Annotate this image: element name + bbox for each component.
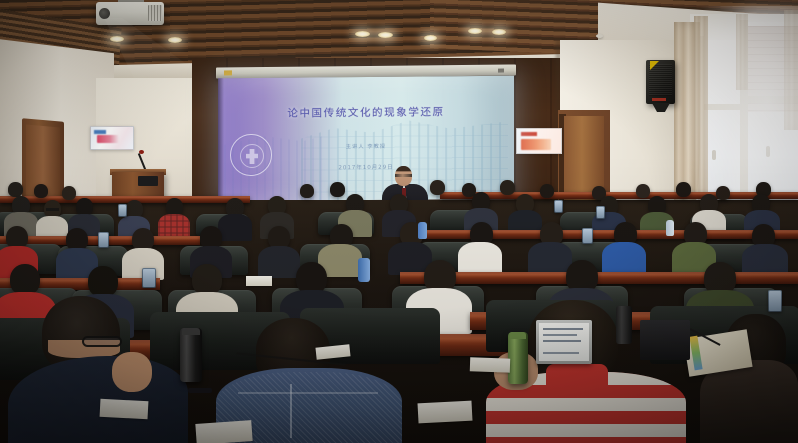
speaker-label — [652, 98, 666, 101]
thermos-flask[interactable] — [616, 306, 632, 344]
speaker-grille — [649, 64, 672, 96]
loose-paper[interactable] — [100, 399, 149, 419]
attendee-head — [330, 182, 345, 197]
tablet-text-line — [543, 346, 571, 348]
smartphone-icon[interactable] — [768, 290, 782, 312]
downlight-icon — [468, 28, 482, 34]
window-curtain[interactable] — [736, 14, 748, 90]
poster-header-band — [94, 130, 106, 134]
attendee-glasses-icon — [46, 208, 59, 211]
attendee-head — [8, 182, 23, 197]
smartphone-icon[interactable] — [98, 232, 109, 248]
lecture-hall-photo: 论中国传统文化的现象学还原 主讲人 李教授 2017年10月29日 — [0, 0, 798, 443]
projector-lens-icon — [99, 8, 110, 19]
wall-speaker-icon — [646, 60, 675, 104]
downlight-icon — [355, 31, 370, 37]
cable-connector — [188, 388, 212, 393]
downlight-icon — [168, 37, 182, 43]
blue-jacket-attendee — [602, 242, 646, 275]
screen-housing-badge — [224, 70, 232, 75]
downlight-icon — [378, 32, 393, 38]
attendee-head — [34, 184, 48, 198]
attendee-head — [10, 264, 40, 295]
attendee-head — [540, 184, 554, 198]
smoke-detector-icon — [596, 34, 603, 38]
thermos-flask[interactable] — [508, 332, 528, 384]
attendee-head — [192, 264, 222, 295]
thermos-lid — [182, 328, 200, 335]
downlight-icon — [492, 29, 506, 35]
smartphone-icon[interactable] — [596, 206, 605, 219]
lectern-monitor — [138, 176, 158, 186]
tablet-computer[interactable] — [536, 320, 592, 364]
microphone-icon — [139, 150, 144, 154]
white-fur-coat-attendee — [458, 242, 502, 275]
attendee-hand — [112, 352, 152, 392]
window-curtain[interactable] — [784, 10, 798, 130]
tablet-computer[interactable] — [640, 320, 690, 360]
desk-row — [400, 272, 798, 284]
poster-graphic — [521, 139, 551, 150]
slide-title: 论中国传统文化的现象学还原 — [218, 104, 514, 122]
window-handle[interactable] — [766, 146, 770, 157]
loose-paper[interactable] — [246, 276, 272, 286]
loose-paper[interactable] — [418, 401, 473, 424]
wall-poster-right — [516, 128, 562, 154]
sweater-collar — [546, 364, 608, 386]
attendee-head — [500, 180, 515, 195]
thermos-lid — [510, 332, 526, 339]
window-handle[interactable] — [712, 150, 716, 160]
screen-edge-shadow — [218, 78, 224, 201]
attendee-torso — [218, 214, 252, 241]
attendee-head — [676, 182, 691, 197]
attendee-head — [62, 186, 76, 200]
loose-paper[interactable] — [195, 420, 252, 443]
wall-poster-left — [90, 126, 134, 150]
poster-graphic — [97, 135, 119, 143]
tablet-text-line — [543, 340, 581, 342]
attendee-head — [716, 186, 730, 200]
water-bottle[interactable] — [666, 220, 674, 236]
attendee-head — [636, 184, 650, 198]
downlight-icon — [110, 36, 124, 42]
attendee-torso — [258, 246, 300, 278]
thermos-flask[interactable] — [180, 328, 202, 382]
attendee-glasses-icon — [82, 336, 122, 347]
downlight-icon — [424, 35, 437, 41]
poster-header-band — [521, 132, 537, 136]
denim-seam — [238, 392, 378, 394]
smartphone-icon[interactable] — [554, 200, 563, 213]
attendee-head — [430, 180, 445, 195]
window-curtain[interactable] — [694, 16, 708, 196]
attendee-head — [88, 266, 118, 297]
tablet-text-line — [543, 352, 579, 354]
loose-paper[interactable] — [470, 357, 510, 372]
smartphone-icon[interactable] — [118, 204, 127, 217]
water-bottle[interactable] — [418, 222, 427, 239]
water-bottle[interactable] — [358, 258, 370, 282]
attendee-head — [300, 184, 314, 198]
presenter-glasses-icon — [395, 174, 412, 177]
tablet-text-line — [543, 334, 577, 336]
desk-row — [440, 192, 798, 199]
smartphone-icon[interactable] — [582, 228, 593, 244]
screen-housing-mount — [498, 69, 504, 73]
tablet-text-line — [543, 328, 583, 330]
smartphone-icon[interactable] — [142, 268, 156, 288]
projector-vent — [148, 5, 162, 21]
attendee-torso — [528, 242, 572, 275]
